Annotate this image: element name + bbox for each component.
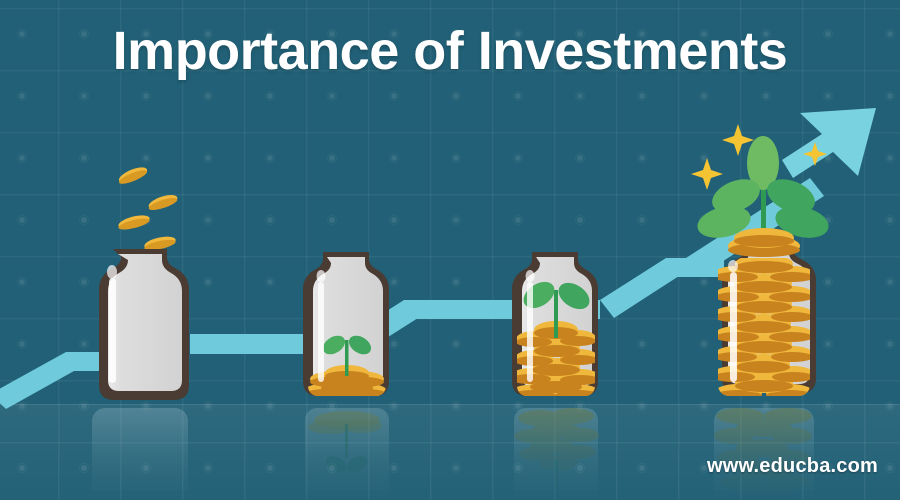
infographic-canvas: Importance of Investments www.educba.com: [0, 0, 900, 500]
jar-3-half: [510, 252, 601, 402]
page-title: Importance of Investments: [0, 24, 900, 78]
jar-highlight: [109, 278, 116, 383]
falling-coins-icon: [117, 164, 179, 252]
jar-glass: [108, 254, 182, 391]
jar-1-empty: [99, 164, 189, 400]
jar-2-sprout: [303, 252, 389, 401]
coin-stack: [713, 254, 814, 402]
jar-highlight: [318, 282, 324, 382]
jar-4-full: [691, 124, 832, 402]
jar-highlight: [527, 282, 533, 382]
jar-4-contents: [713, 254, 814, 402]
site-watermark: www.educba.com: [707, 455, 878, 478]
jar-highlight: [730, 272, 737, 382]
